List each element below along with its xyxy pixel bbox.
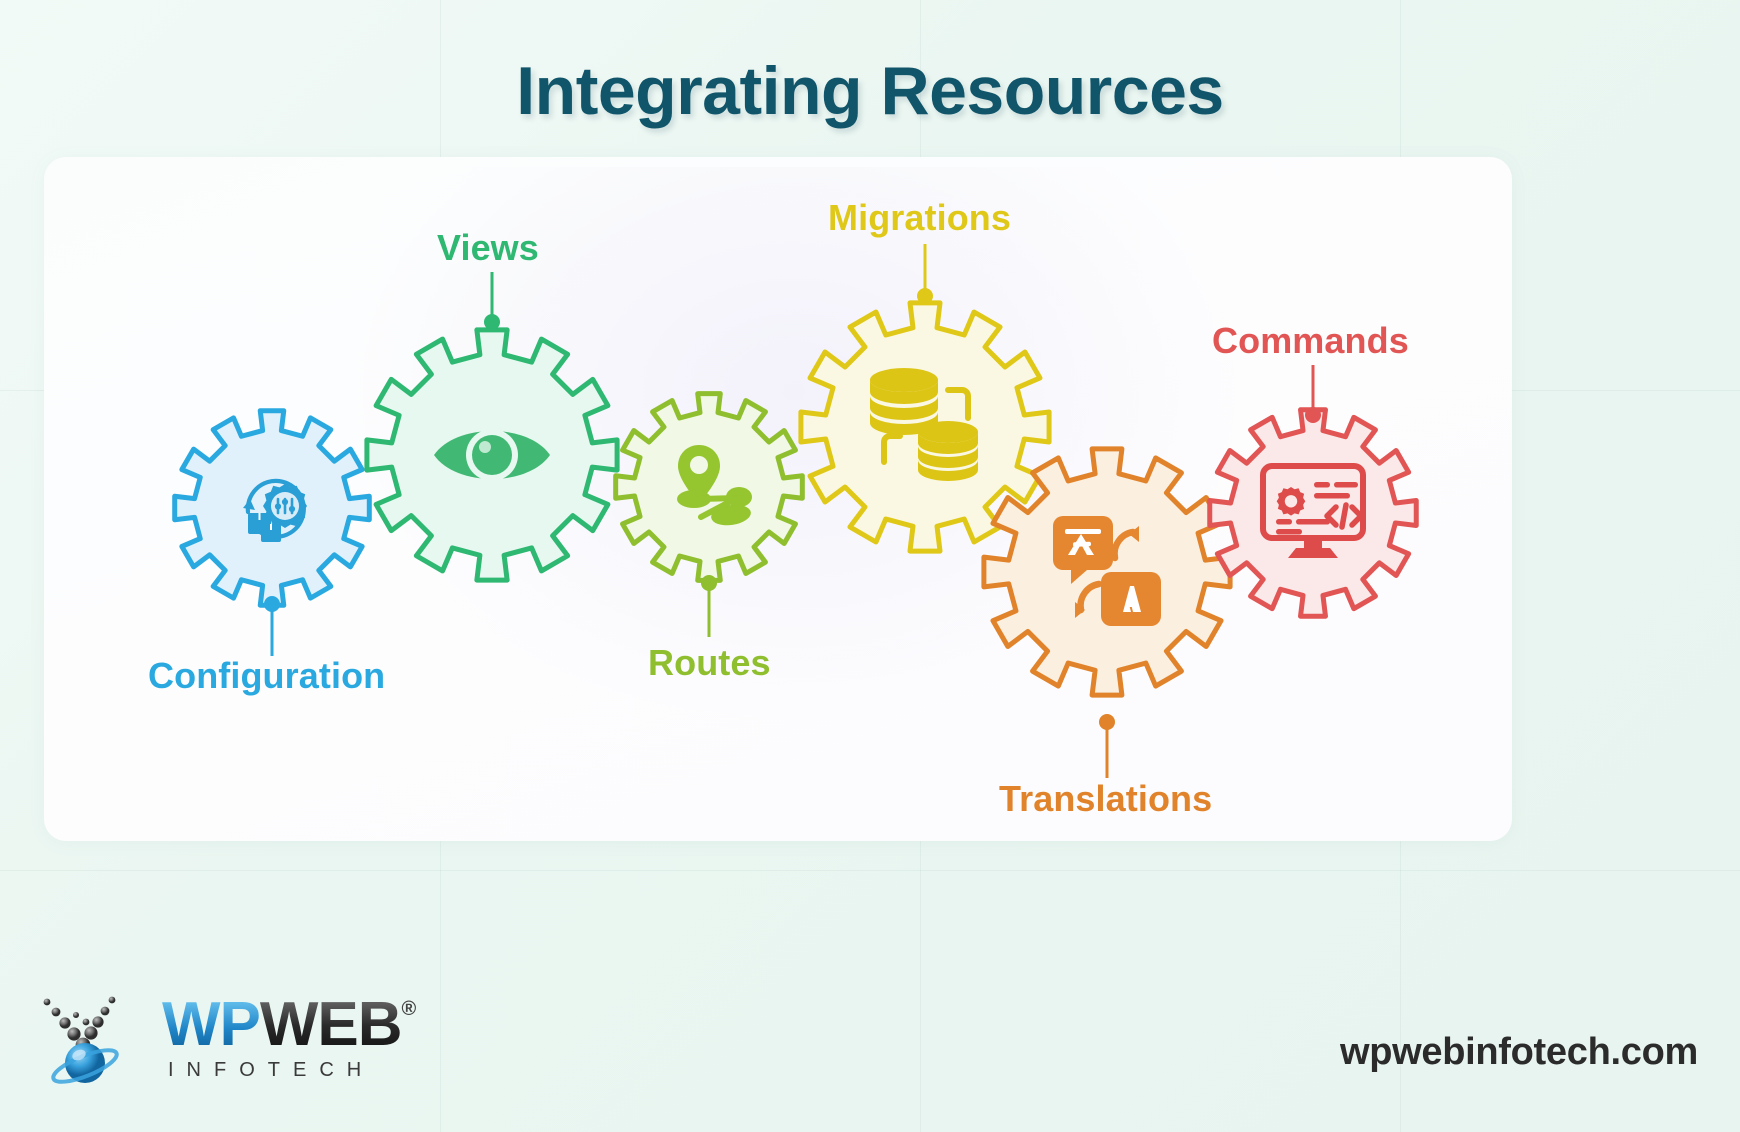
- gear-label-commands: Commands: [1212, 320, 1409, 362]
- website-url: wpwebinfotech.com: [1340, 1031, 1698, 1074]
- registered-mark-icon: ®: [402, 1000, 416, 1019]
- gear-node-translations[interactable]: [981, 446, 1233, 698]
- gear-label-migrations: Migrations: [828, 197, 1011, 239]
- brand-logo[interactable]: WPWEB® INFOTECH: [38, 984, 415, 1094]
- database-stack-icon: [866, 362, 984, 490]
- infographic-canvas: Integrating Resources: [0, 0, 1740, 1132]
- gear-node-views[interactable]: [364, 327, 620, 583]
- gear-node-routes[interactable]: [613, 391, 805, 583]
- logo-wordmark-primary: WP: [162, 996, 260, 1055]
- connector-dot: [917, 288, 933, 304]
- page-title: Integrating Resources: [0, 52, 1740, 130]
- connector-views: [484, 272, 500, 330]
- wpweb-logo-icon: [38, 984, 148, 1094]
- monitor-code-icon: [1260, 463, 1366, 563]
- gear-label-translations: Translations: [999, 778, 1212, 820]
- connector-commands: [1305, 365, 1321, 423]
- connector-stem: [708, 583, 711, 637]
- logo-wordmark-block: WPWEB® INFOTECH: [162, 996, 415, 1082]
- connector-dot: [1305, 407, 1321, 423]
- translate-icon: [1051, 514, 1163, 630]
- logo-tagline: INFOTECH: [168, 1059, 374, 1082]
- logo-wordmark: WPWEB®: [162, 996, 415, 1055]
- gear-label-routes: Routes: [648, 642, 771, 684]
- eye-icon: [430, 413, 554, 497]
- map-pin-route-icon: [665, 441, 755, 533]
- connector-routes: [701, 575, 717, 637]
- settings-gear-boxes-icon: [228, 462, 320, 554]
- gear-label-configuration: Configuration: [148, 655, 385, 697]
- connector-dot: [484, 314, 500, 330]
- footer: WPWEB® INFOTECH wpwebinfotech.com: [0, 952, 1740, 1132]
- connector-translations: [1099, 714, 1115, 778]
- connector-stem: [1106, 722, 1109, 778]
- gear-node-configuration[interactable]: [172, 408, 372, 608]
- logo-wordmark-secondary: WEB: [260, 996, 402, 1055]
- connector-migrations: [917, 244, 933, 304]
- connector-stem: [271, 604, 274, 656]
- gear-node-commands[interactable]: [1207, 407, 1419, 619]
- gear-label-views: Views: [437, 227, 539, 269]
- connector-configuration: [264, 596, 280, 656]
